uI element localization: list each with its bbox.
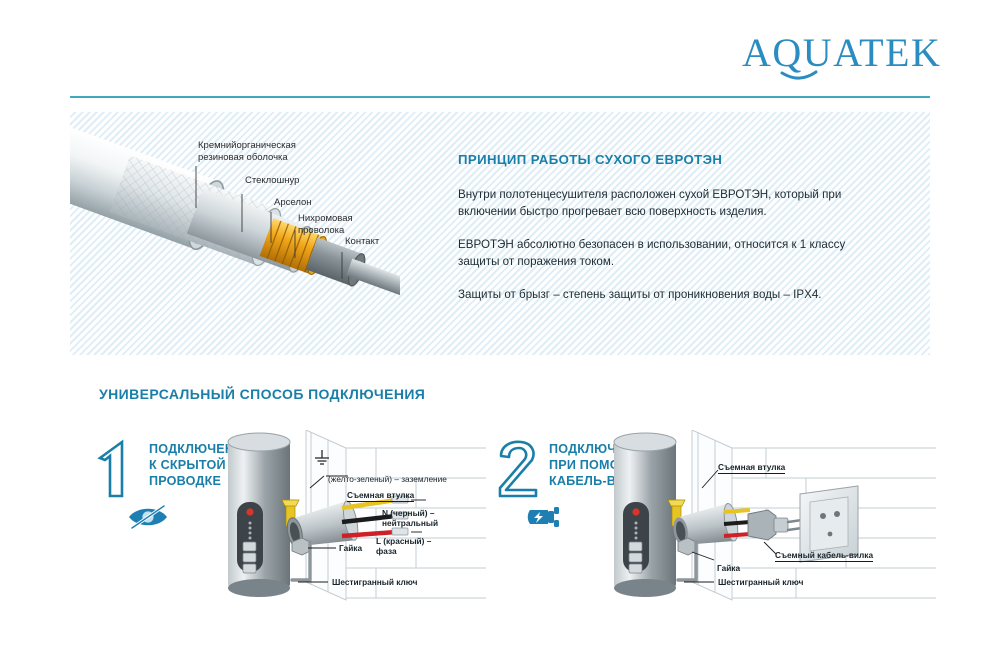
- cable-label-sheath: Кремнийорганическая резиновая оболочка: [198, 140, 296, 163]
- nut: [292, 538, 310, 555]
- heater-body: [614, 433, 676, 597]
- label-nut-2: Гайка: [717, 563, 740, 573]
- method-2: ПОДКЛЮЧЕНИЕ ПРИ ПОМОЩИ КАБЕЛЬ-ВИЛКИ: [496, 430, 936, 620]
- cable-label-nichrome: Нихромовая проволока: [298, 213, 353, 236]
- socket-hole-right: [834, 511, 840, 517]
- label-hexkey-2: Шестигранный ключ: [718, 577, 803, 587]
- socket-hole-left: [820, 513, 826, 519]
- label-nut-1: Гайка: [339, 543, 362, 553]
- brand-logo: AQUATEK: [742, 30, 942, 82]
- connection-section-title: УНИВЕРСАЛЬНЫЙ СПОСОБ ПОДКЛЮЧЕНИЯ: [99, 386, 425, 402]
- control-buttons: [243, 542, 256, 573]
- infographic-root: AQUATEK: [0, 0, 1000, 667]
- cable-label-arselon: Арселон: [274, 197, 312, 209]
- power-led: [246, 508, 253, 515]
- label-cable-plug: Съемный кабель-вилка: [775, 550, 873, 562]
- wire-phase-red: [724, 534, 750, 536]
- label-phase: L (красный) – фаза: [376, 536, 431, 556]
- brand-wordmark: AQUATEK: [742, 30, 941, 75]
- cable-label-glasscord: Стеклошнур: [245, 175, 299, 187]
- cable-label-contact: Контакт: [345, 236, 379, 248]
- method-1: ПОДКЛЮЧЕНИЕ К СКРЫТОЙ ПРОВОДКЕ: [96, 430, 486, 620]
- power-led: [632, 508, 639, 515]
- principle-paragraph-2: ЕВРОТЭН абсолютно безопасен в использова…: [458, 236, 888, 270]
- principle-textblock: ПРИНЦИП РАБОТЫ СУХОГО ЕВРОТЭН Внутри пол…: [458, 152, 888, 303]
- socket-ground-hole: [828, 532, 833, 537]
- header-divider: [70, 96, 930, 98]
- cable-label-group: Кремнийорганическая резиновая оболочка С…: [70, 112, 400, 355]
- principle-title: ПРИНЦИП РАБОТЫ СУХОГО ЕВРОТЭН: [458, 152, 888, 167]
- label-sleeve-1: Съемная втулка: [347, 490, 414, 502]
- heater-body: [228, 433, 290, 597]
- principle-paragraph-3: Защиты от брызг – степень защиты от прон…: [458, 286, 888, 303]
- label-sleeve-2: Съемная втулка: [718, 462, 785, 474]
- wire-ground-yellow: [724, 510, 750, 512]
- principle-panel: Кремнийорганическая резиновая оболочка С…: [70, 112, 930, 355]
- method-2-scene: [496, 430, 936, 620]
- cable-plug: [748, 510, 802, 540]
- principle-paragraph-1: Внутри полотенцесушителя расположен сухо…: [458, 186, 888, 220]
- control-buttons: [629, 542, 642, 573]
- wire-neutral-black: [724, 522, 750, 524]
- label-ground: (желто-зеленый) – заземление: [328, 474, 447, 484]
- label-neutral: N (черный) – нейтральный: [382, 508, 438, 528]
- label-hexkey-1: Шестигранный ключ: [332, 577, 417, 587]
